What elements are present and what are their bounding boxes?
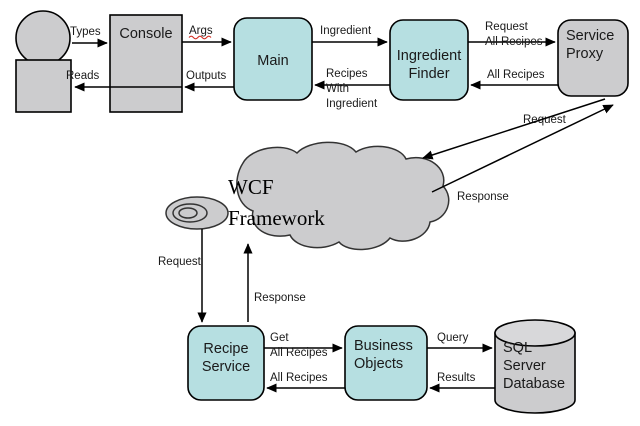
edge-response-proxy-label: Response: [457, 191, 509, 203]
edge-request-recipe-service-label: Request: [158, 256, 202, 268]
recipe-service-label-line2: Service: [202, 359, 250, 375]
business-objects-label-line1: Business: [354, 338, 413, 354]
edge-all-recipes-top-label: All Recipes: [487, 69, 545, 81]
edge-request-all-recipes-label-line1: Request: [485, 21, 529, 33]
ingredient-finder-label-line1: Ingredient: [397, 48, 462, 64]
edge-response-proxy-line: [423, 99, 605, 158]
node-console: Console: [110, 15, 182, 112]
cloud-tail-inner-icon: [179, 208, 197, 218]
edge-response-recipe-service-label: Response: [254, 292, 306, 304]
edge-args-label: Args: [189, 25, 213, 37]
node-sql-database: SQL Server Database: [495, 320, 575, 413]
architecture-diagram: Console Main Ingredient Finder Service P…: [0, 0, 640, 426]
service-proxy-label-line2: Proxy: [566, 46, 604, 62]
node-service-proxy: Service Proxy: [558, 20, 628, 96]
node-ingredient-finder: Ingredient Finder: [390, 20, 468, 100]
edge-recipes-with-ingredient-label-line2: With: [326, 83, 349, 95]
edge-reads-label: Reads: [66, 70, 99, 82]
edge-recipes-with-ingredient-label-line3: Ingredient: [326, 98, 378, 110]
args-spellcheck-underline-icon: [189, 36, 211, 39]
diagram-canvas: Console Main Ingredient Finder Service P…: [0, 0, 640, 426]
actor-body-icon: [16, 60, 71, 112]
node-main: Main: [234, 18, 312, 100]
sql-database-label-line2: Server: [503, 358, 546, 374]
node-actor: [16, 11, 71, 112]
sql-database-label-line3: Database: [503, 376, 565, 392]
main-label: Main: [257, 53, 288, 69]
edge-recipes-with-ingredient-label-line1: Recipes: [326, 68, 368, 80]
edge-query-label: Query: [437, 332, 469, 344]
wcf-cloud-label-line2: Framework: [228, 206, 325, 230]
service-proxy-label-line1: Service: [566, 28, 614, 44]
actor-head-icon: [16, 11, 70, 65]
node-recipe-service: Recipe Service: [188, 326, 264, 400]
edge-all-recipes-bottom-label: All Recipes: [270, 372, 328, 384]
edge-outputs-label: Outputs: [186, 70, 227, 82]
edge-get-all-recipes-label-line2: All Recipes: [270, 347, 328, 359]
business-objects-label-line2: Objects: [354, 356, 403, 372]
wcf-cloud-label-line1: WCF: [228, 175, 274, 199]
console-label: Console: [119, 26, 172, 42]
edge-get-all-recipes-label-line1: Get: [270, 332, 289, 344]
edge-request-all-recipes-label-line2: All Recipes: [485, 36, 543, 48]
sql-database-label-line1: SQL: [503, 340, 532, 356]
edge-results-label: Results: [437, 372, 476, 384]
node-wcf-cloud: WCF Framework: [166, 142, 449, 249]
recipe-service-label-line1: Recipe: [203, 341, 248, 357]
node-business-objects: Business Objects: [345, 326, 427, 400]
edge-types-label: Types: [70, 26, 101, 38]
ingredient-finder-label-line2: Finder: [408, 66, 449, 82]
edge-ingredient-label: Ingredient: [320, 25, 372, 37]
